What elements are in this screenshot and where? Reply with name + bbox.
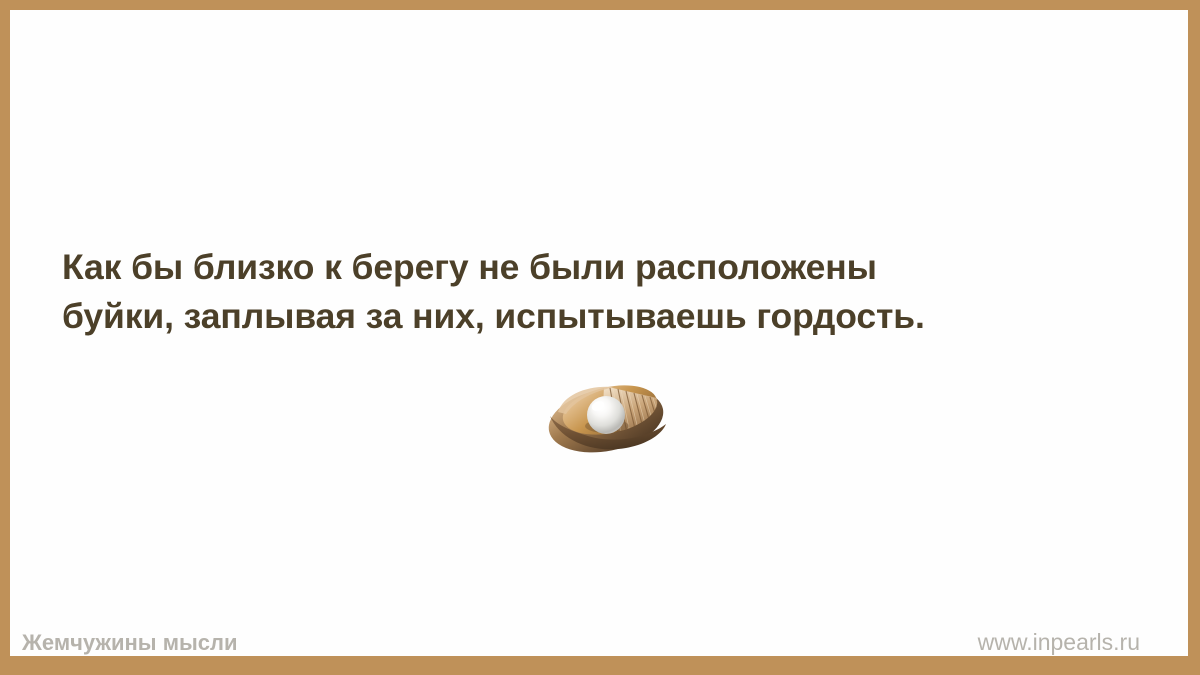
quote-card: Как бы близко к берегу не были расположе… — [10, 10, 1188, 656]
pearl-highlight — [587, 396, 625, 434]
footer-brand: Жемчужины мысли — [22, 628, 238, 658]
footer: Жемчужины мысли www.inpearls.ru — [10, 622, 1188, 666]
quote-block: Как бы близко к берегу не были расположе… — [62, 243, 1152, 341]
quote-text: Как бы близко к берегу не были расположе… — [62, 243, 1152, 341]
pearl-in-oyster-shell-icon — [544, 378, 674, 458]
footer-site-link[interactable]: www.inpearls.ru — [978, 627, 1140, 657]
